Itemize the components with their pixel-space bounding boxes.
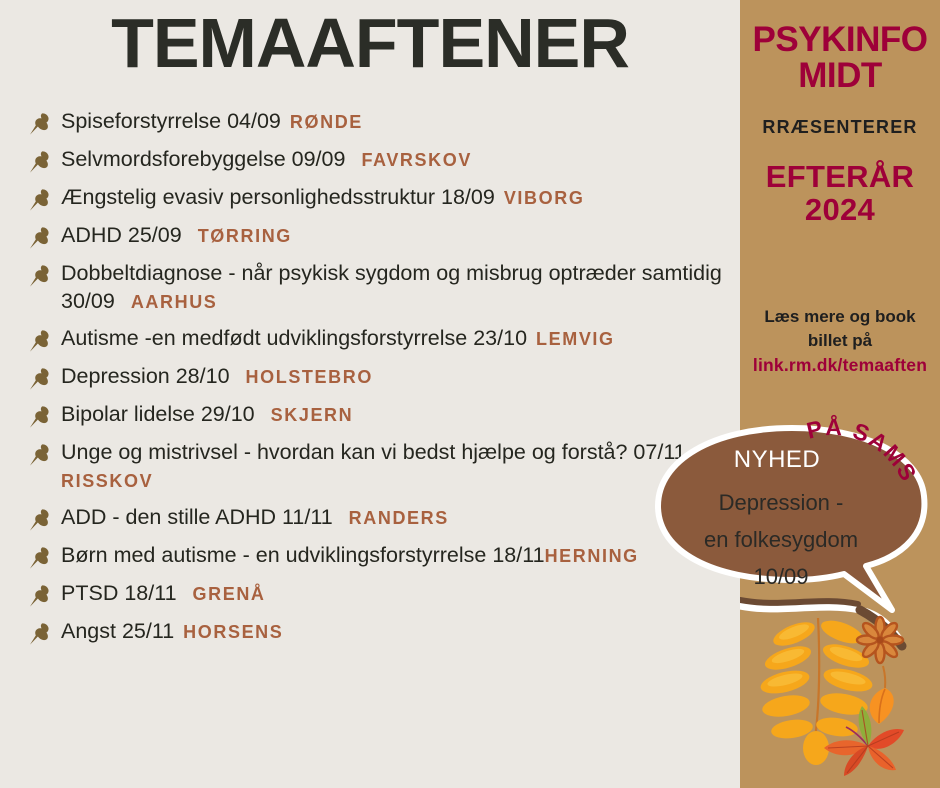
event-title: PTSD 18/11: [61, 581, 177, 605]
event-city: RANDERS: [349, 508, 449, 528]
event-title: Ængstelig evasiv personlighedsstruktur 1…: [61, 185, 495, 209]
event-text: Angst 25/11HORSENS: [56, 618, 283, 646]
event-city: HORSENS: [183, 622, 283, 642]
event-title: Bipolar lidelse 29/10: [61, 402, 255, 426]
event-text: Unge og mistrivsel - hvordan kan vi beds…: [56, 439, 742, 495]
event-city: VIBORG: [504, 188, 585, 208]
event-title: Selvmordsforebyggelse 09/09: [61, 147, 345, 171]
pushpin-icon: [26, 545, 56, 571]
event-text: Dobbeltdiagnose - når psykisk sygdom og …: [56, 260, 742, 316]
event-item: Ængstelig evasiv personlighedsstruktur 1…: [26, 184, 742, 213]
pushpin-icon: [26, 442, 56, 468]
pushpin-icon: [26, 263, 56, 289]
event-title: Spiseforstyrrelse 04/09: [61, 109, 281, 133]
brand-line-1: PSYKINFO: [753, 22, 928, 58]
pushpin-icon: [26, 404, 56, 430]
event-title: ADD - den stille ADHD 11/11: [61, 505, 333, 529]
event-text: Depression 28/10HOLSTEBRO: [56, 363, 373, 391]
poster-canvas: TEMAAFTENER Spiseforstyrrelse 04/09RØNDE…: [0, 0, 940, 788]
pushpin-icon: [26, 149, 56, 175]
season-label: EFTERÅR 2024: [766, 160, 915, 227]
season-line-2: 2024: [766, 193, 915, 226]
event-text: ADHD 25/09TØRRING: [56, 222, 292, 250]
event-text: Bipolar lidelse 29/10SKJERN: [56, 401, 353, 429]
news-speech-bubble: NYHED Depression - en folkesygdom 10/09 …: [648, 424, 940, 639]
readmore-text: Læs mere og book billet på: [764, 305, 915, 353]
event-city: HERNING: [545, 546, 639, 566]
pushpin-icon: [26, 507, 56, 533]
event-city: AARHUS: [131, 292, 218, 312]
booking-link[interactable]: link.rm.dk/temaaften: [753, 355, 927, 376]
event-item: Autisme -en medfødt udviklingsforstyrrel…: [26, 325, 742, 354]
event-item: Børn med autisme - en udviklingsforstyrr…: [26, 542, 742, 571]
event-title: Autisme -en medfødt udviklingsforstyrrel…: [61, 326, 527, 350]
event-city: HOLSTEBRO: [246, 367, 373, 387]
event-item: Dobbeltdiagnose - når psykisk sygdom og …: [26, 260, 742, 316]
event-city: SKJERN: [271, 405, 354, 425]
brand-name: PSYKINFO MIDT: [753, 22, 928, 95]
event-item: Unge og mistrivsel - hvordan kan vi beds…: [26, 439, 742, 495]
event-text: PTSD 18/11GRENÅ: [56, 580, 266, 608]
event-text: Spiseforstyrrelse 04/09RØNDE: [56, 108, 363, 136]
season-line-1: EFTERÅR: [766, 160, 915, 193]
event-title: Depression 28/10: [61, 364, 230, 388]
event-text: ADD - den stille ADHD 11/11RANDERS: [56, 504, 449, 532]
event-item: Angst 25/11HORSENS: [26, 618, 742, 647]
pushpin-icon: [26, 111, 56, 137]
readmore-line-2: billet på: [764, 329, 915, 353]
event-item: Selvmordsforebyggelse 09/09FAVRSKOV: [26, 146, 742, 175]
event-item: ADD - den stille ADHD 11/11RANDERS: [26, 504, 742, 533]
event-title: ADHD 25/09: [61, 223, 182, 247]
event-city: RØNDE: [290, 112, 363, 132]
readmore-line-1: Læs mere og book: [764, 305, 915, 329]
presents-label: RRÆSENTERER: [762, 117, 917, 138]
pushpin-icon: [26, 187, 56, 213]
event-item: Bipolar lidelse 29/10SKJERN: [26, 401, 742, 430]
chestnut-leaf-icon: [824, 706, 904, 776]
event-item: Spiseforstyrrelse 04/09RØNDE: [26, 108, 742, 137]
event-city: TØRRING: [198, 226, 292, 246]
samso-arc-label: PÅ SAMSØ: [803, 430, 923, 510]
event-text: Børn med autisme - en udviklingsforstyrr…: [56, 542, 639, 570]
pushpin-icon: [26, 621, 56, 647]
event-item: PTSD 18/11GRENÅ: [26, 580, 742, 609]
brand-line-2: MIDT: [753, 58, 928, 94]
event-title: Børn med autisme - en udviklingsforstyrr…: [61, 543, 545, 567]
event-city: RISSKOV: [61, 471, 153, 491]
event-list: Spiseforstyrrelse 04/09RØNDESelvmordsfor…: [26, 108, 742, 656]
event-text: Autisme -en medfødt udviklingsforstyrrel…: [56, 325, 615, 353]
event-text: Ængstelig evasiv personlighedsstruktur 1…: [56, 184, 584, 212]
orange-leaf-icon: [870, 666, 894, 724]
page-title: TEMAAFTENER: [0, 8, 740, 78]
event-city: FAVRSKOV: [361, 150, 471, 170]
pushpin-icon: [26, 328, 56, 354]
pushpin-icon: [26, 225, 56, 251]
pushpin-icon: [26, 366, 56, 392]
event-text: Selvmordsforebyggelse 09/09FAVRSKOV: [56, 146, 472, 174]
event-item: Depression 28/10HOLSTEBRO: [26, 363, 742, 392]
event-item: ADHD 25/09TØRRING: [26, 222, 742, 251]
pushpin-icon: [26, 583, 56, 609]
event-title: Angst 25/11: [61, 619, 174, 643]
event-city: GRENÅ: [193, 584, 266, 604]
event-title: Unge og mistrivsel - hvordan kan vi beds…: [61, 440, 686, 464]
event-city: LEMVIG: [536, 329, 615, 349]
